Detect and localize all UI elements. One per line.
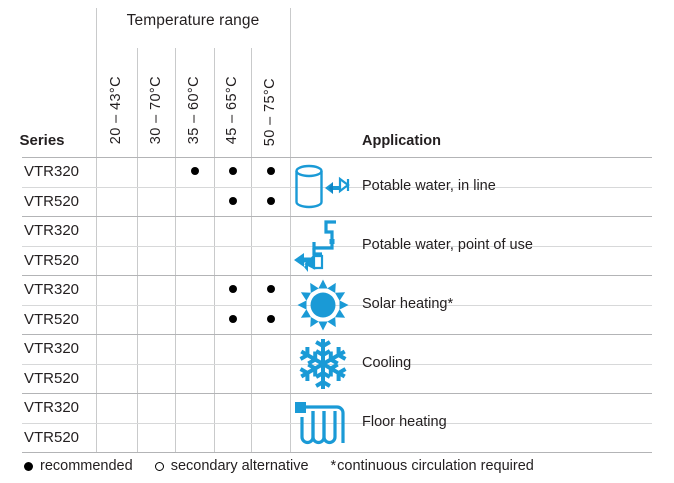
- recommended-mark-icon: [267, 315, 275, 323]
- temperature-column-label: 35 – 60°C: [187, 76, 202, 144]
- recommended-mark-icon: [267, 167, 275, 175]
- table-row: VTR320: [24, 216, 96, 246]
- table-row: VTR320: [24, 157, 96, 187]
- temperature-column-label: 50 – 75°C: [263, 78, 278, 146]
- legend-recommended-label: recommended: [40, 458, 133, 474]
- temperature-column-label: 45 – 65°C: [225, 76, 240, 144]
- recommended-mark-icon: [267, 285, 275, 293]
- row-rule-0: [22, 157, 652, 158]
- recommended-mark-icon: [229, 285, 237, 293]
- floor-heating-icon: [292, 396, 354, 449]
- application-label: Floor heating: [362, 414, 447, 430]
- table-row: VTR320: [24, 275, 96, 305]
- application-label: Potable water, in line: [362, 178, 496, 194]
- table-row: VTR520: [24, 187, 96, 217]
- legend-recommended: recommended: [24, 458, 133, 474]
- water-cylinder-icon: [292, 160, 354, 213]
- series-column-header: Series: [0, 132, 84, 149]
- legend: recommended secondary alternative * cont…: [24, 458, 534, 474]
- row-rule-4: [22, 275, 652, 276]
- temperature-range-header: Temperature range: [96, 12, 290, 30]
- spec-table-page: Temperature range 20 – 43°C30 – 70°C35 –…: [0, 0, 674, 483]
- sun-icon: [292, 278, 354, 331]
- temperature-column-header-3: 45 – 65°C: [214, 48, 251, 144]
- faucet-icon: [292, 219, 354, 272]
- legend-footnote: * continuous circulation required: [331, 458, 534, 474]
- temperature-column-header-2: 35 – 60°C: [175, 48, 214, 144]
- temperature-column-label: 30 – 70°C: [149, 76, 164, 144]
- recommended-mark-icon: [229, 315, 237, 323]
- open-dot-icon: [155, 462, 164, 471]
- legend-secondary-label: secondary alternative: [171, 458, 309, 474]
- filled-dot-icon: [24, 462, 33, 471]
- application-label: Solar heating*: [362, 296, 453, 312]
- recommended-mark-icon: [267, 197, 275, 205]
- snowflake-icon: [292, 337, 354, 390]
- temperature-column-header-4: 50 – 75°C: [251, 56, 290, 146]
- legend-secondary: secondary alternative: [155, 458, 309, 474]
- column-separator-5: [290, 8, 291, 452]
- table-row: VTR520: [24, 364, 96, 394]
- temperature-column-header-0: 20 – 43°C: [96, 48, 137, 144]
- application-label: Cooling: [362, 355, 411, 371]
- recommended-mark-icon: [229, 167, 237, 175]
- table-row: VTR520: [24, 305, 96, 335]
- table-row: VTR320: [24, 334, 96, 364]
- table-row: VTR520: [24, 423, 96, 453]
- recommended-mark-icon: [191, 167, 199, 175]
- table-row: VTR320: [24, 393, 96, 423]
- legend-footnote-label: continuous circulation required: [337, 458, 534, 474]
- row-rule-8: [22, 393, 652, 394]
- asterisk-icon: *: [331, 458, 337, 474]
- row-rule-10: [22, 452, 652, 453]
- temperature-column-label: 20 – 43°C: [109, 76, 124, 144]
- application-label: Potable water, point of use: [362, 237, 533, 253]
- table-row: VTR520: [24, 246, 96, 276]
- application-column-header: Application: [362, 133, 441, 149]
- temperature-column-header-1: 30 – 70°C: [137, 48, 175, 144]
- recommended-mark-icon: [229, 197, 237, 205]
